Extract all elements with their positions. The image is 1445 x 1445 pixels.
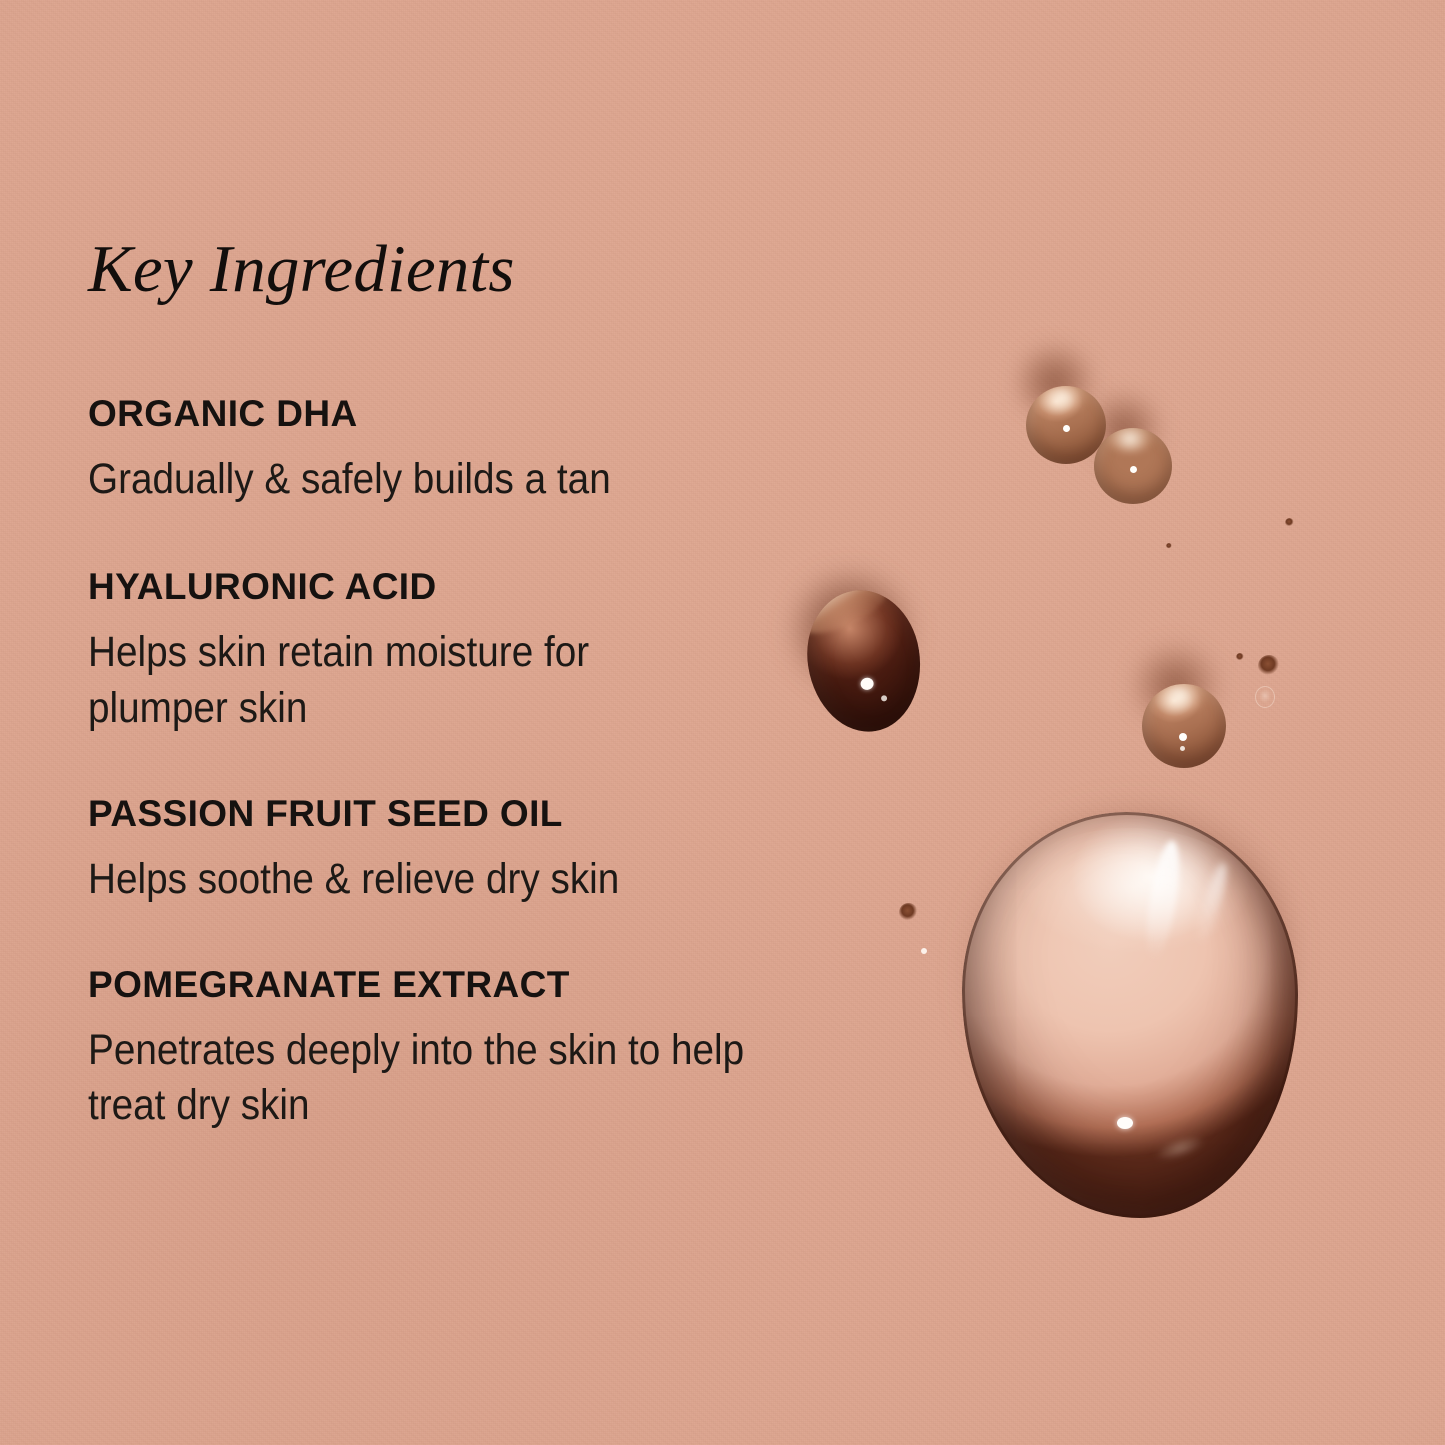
ingredient-infographic: Key Ingredients ORGANIC DHA Gradually & … <box>0 0 1445 1445</box>
speck-dark-4 <box>1258 655 1280 677</box>
small-droplet-upper-left-highlight <box>1032 386 1093 411</box>
small-droplet-upper-left <box>1026 386 1106 464</box>
speck-dark-1 <box>899 903 918 922</box>
small-droplet-upper-right-highlight <box>1100 428 1159 452</box>
content-column: Key Ingredients ORGANIC DHA Gradually & … <box>88 236 878 1134</box>
speck-dark-2 <box>1285 518 1294 527</box>
medium-droplet-specular-dot-small <box>881 695 888 702</box>
small-droplet-upper-right <box>1094 428 1172 504</box>
small-droplet-right-specular-dot-small <box>1180 746 1185 751</box>
small-droplet-right-specular-dot <box>1179 733 1187 741</box>
small-droplet-upper-left-specular-dot <box>1063 425 1070 432</box>
ingredient-item-hyaluronic-acid: HYALURONIC ACID Helps skin retain moistu… <box>88 568 878 737</box>
small-droplet-right-highlight <box>1147 684 1213 711</box>
speck-light-1 <box>921 948 927 954</box>
ingredient-name: POMEGRANATE EXTRACT <box>88 966 878 1003</box>
ingredient-description: Helps skin retain moisture for plumper s… <box>88 625 718 737</box>
ingredient-description: Penetrates deeply into the skin to help … <box>88 1023 799 1135</box>
small-droplet-right <box>1142 684 1226 768</box>
page-title: Key Ingredients <box>88 236 878 303</box>
ingredient-item-pomegranate-extract: POMEGRANATE EXTRACT Penetrates deeply in… <box>88 966 878 1135</box>
ingredient-name: ORGANIC DHA <box>88 395 878 432</box>
speck-dark-3 <box>1236 653 1244 661</box>
small-droplet-upper-right-specular-dot <box>1130 466 1137 473</box>
ingredient-name: PASSION FRUIT SEED OIL <box>88 795 878 832</box>
ingredient-item-organic-dha: ORGANIC DHA Gradually & safely builds a … <box>88 395 878 508</box>
speck-dark-5 <box>1166 543 1172 549</box>
speck-ghost-1 <box>1255 686 1275 708</box>
ingredient-list: ORGANIC DHA Gradually & safely builds a … <box>88 395 878 1134</box>
ingredient-name: HYALURONIC ACID <box>88 568 878 605</box>
ingredient-description: Gradually & safely builds a tan <box>88 452 772 508</box>
ingredient-description: Helps soothe & relieve dry skin <box>88 852 772 908</box>
ingredient-item-passion-fruit-seed-oil: PASSION FRUIT SEED OIL Helps soothe & re… <box>88 795 878 908</box>
